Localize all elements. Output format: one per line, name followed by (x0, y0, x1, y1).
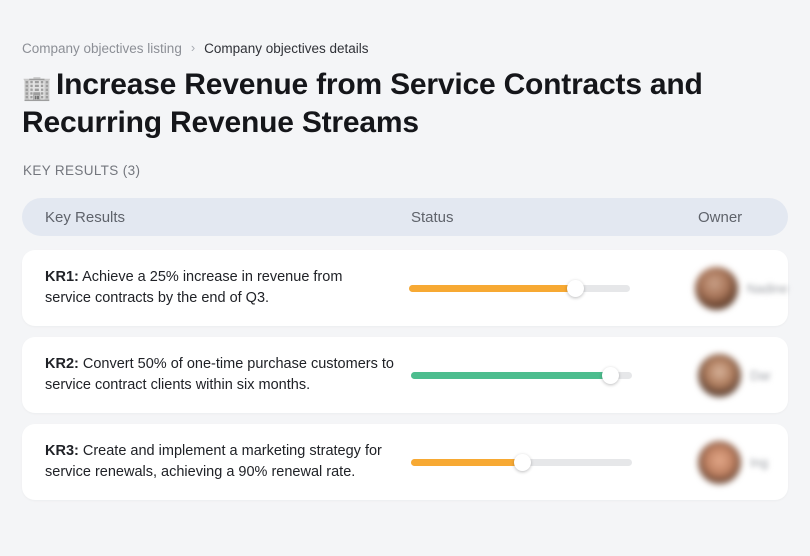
table-row[interactable]: KR2: Convert 50% of one-time purchase cu… (22, 337, 788, 413)
key-result-description: Convert 50% of one-time purchase custome… (45, 356, 394, 393)
progress-knob[interactable] (567, 280, 584, 297)
status-cell (394, 366, 644, 384)
chevron-right-icon: › (191, 41, 195, 54)
key-result-id: KR3: (45, 443, 79, 459)
key-results-table: Key Results Status Owner KR1: Achieve a … (22, 198, 788, 511)
key-result-description: Create and implement a marketing strateg… (45, 443, 382, 480)
progress-slider[interactable] (411, 453, 632, 471)
owner-name: Nadine (747, 281, 788, 296)
key-result-text-cell: KR1: Achieve a 25% increase in revenue f… (22, 267, 392, 309)
key-results-section-label: KEY RESULTS (3) (23, 163, 140, 178)
avatar[interactable] (695, 267, 738, 310)
table-header-row: Key Results Status Owner (22, 198, 788, 236)
progress-fill (411, 372, 610, 379)
page-title: Increase Revenue from Service Contracts … (22, 66, 722, 142)
key-result-text-cell: KR3: Create and implement a marketing st… (22, 441, 394, 483)
progress-knob[interactable] (602, 367, 619, 384)
status-cell (392, 279, 641, 297)
breadcrumb: Company objectives listing › Company obj… (22, 40, 369, 57)
progress-slider[interactable] (411, 366, 632, 384)
progress-fill (411, 459, 522, 466)
progress-knob[interactable] (514, 454, 531, 471)
table-row[interactable]: KR1: Achieve a 25% increase in revenue f… (22, 250, 788, 326)
owner-name: Dar (750, 368, 771, 383)
owner-cell: Nadine (641, 267, 788, 310)
avatar[interactable] (698, 354, 741, 397)
status-cell (394, 453, 644, 471)
progress-fill (409, 285, 575, 292)
progress-slider[interactable] (409, 279, 630, 297)
key-result-id: KR2: (45, 356, 79, 372)
owner-cell: Ing (644, 441, 788, 484)
page-root: Company objectives listing › Company obj… (0, 0, 810, 556)
column-header-key-results: Key Results (22, 209, 394, 226)
owner-cell: Dar (644, 354, 788, 397)
key-result-description: Achieve a 25% increase in revenue from s… (45, 269, 342, 306)
table-row[interactable]: KR3: Create and implement a marketing st… (22, 424, 788, 500)
avatar[interactable] (698, 441, 741, 484)
column-header-status: Status (394, 209, 644, 226)
column-header-owner: Owner (644, 209, 788, 226)
owner-name: Ing (750, 455, 768, 470)
breadcrumb-current: Company objectives details (204, 40, 368, 57)
page-title-wrapper: 🏢 Increase Revenue from Service Contract… (22, 66, 722, 142)
key-result-id: KR1: (45, 269, 79, 285)
office-building-icon: 🏢 (22, 74, 50, 104)
breadcrumb-parent-link[interactable]: Company objectives listing (22, 40, 182, 57)
key-result-text-cell: KR2: Convert 50% of one-time purchase cu… (22, 354, 394, 396)
